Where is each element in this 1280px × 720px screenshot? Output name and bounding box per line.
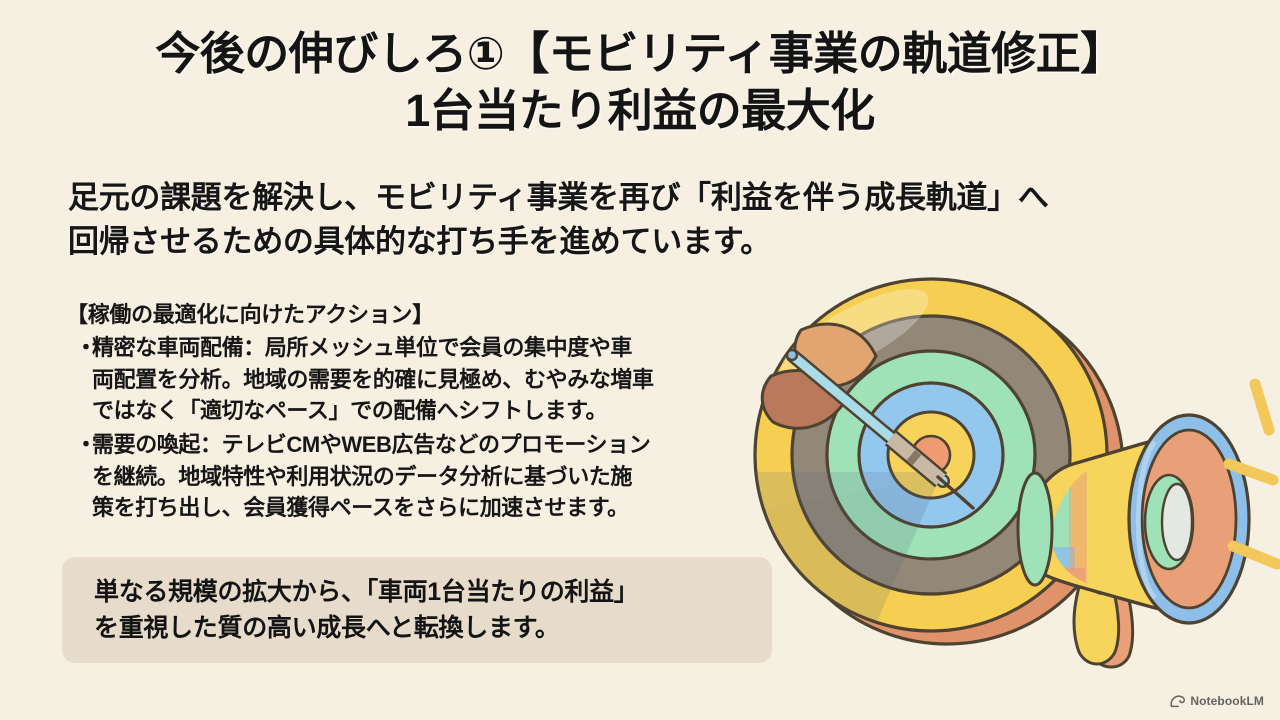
bullet-line: 精密な車両配備：局所メッシュ単位で会員の集中度や車 [92, 332, 756, 364]
title-line-1: 今後の伸びしろ①【モビリティ事業の軌道修正】 [0, 26, 1280, 83]
page-title: 今後の伸びしろ①【モビリティ事業の軌道修正】 1台当たり利益の最大化 [0, 26, 1280, 139]
notebooklm-watermark: NotebookLM [1170, 694, 1264, 708]
bullet-marker: ・ [75, 332, 97, 364]
bullet-line: ではなく「適切なペース」での配備へシフトします。 [92, 395, 756, 427]
callout-line-2: を重視した質の高い成長へと転換します。 [94, 610, 772, 647]
bullet-line: 両配置を分析。地域の需要を的確に見極め、むやみな増車 [92, 364, 756, 396]
callout-box: 単なる規模の拡大から、「車両1台当たりの利益」 を重視した質の高い成長へと転換し… [62, 557, 772, 663]
notebooklm-spiral-icon [1170, 695, 1185, 708]
slide-canvas: 今後の伸びしろ①【モビリティ事業の軌道修正】 1台当たり利益の最大化 足元の課題… [0, 0, 1280, 720]
list-item: ・ 精密な車両配備：局所メッシュ単位で会員の集中度や車 両配置を分析。地域の需要… [66, 332, 756, 427]
bullet-line: 需要の喚起：テレビCMやWEB広告などのプロモーション [92, 429, 756, 461]
lead-line-2: 回帰させるための具体的な打ち手を進めています。 [68, 220, 1178, 264]
notebooklm-label: NotebookLM [1190, 694, 1264, 708]
lead-line-1: 足元の課題を解決し、モビリティ事業を再び「利益を伴う成長軌道」へ [68, 176, 1178, 220]
bullet-line: を継続。地域特性や利用状況のデータ分析に基づいた施 [92, 461, 756, 493]
callout-line-1: 単なる規模の拡大から、「車両1台当たりの利益」 [94, 574, 772, 611]
dartboard-megaphone-illustration [735, 272, 1280, 692]
list-item: ・ 需要の喚起：テレビCMやWEB広告などのプロモーション を継続。地域特性や利… [66, 429, 756, 524]
lead-paragraph: 足元の課題を解決し、モビリティ事業を再び「利益を伴う成長軌道」へ 回帰させるため… [68, 176, 1178, 264]
bullet-line: 策を打ち出し、会員獲得ペースをさらに加速させます。 [92, 492, 756, 524]
body-heading: 【稼働の最適化に向けたアクション】 [66, 300, 756, 329]
body-column: 【稼働の最適化に向けたアクション】 ・ 精密な車両配備：局所メッシュ単位で会員の… [66, 300, 756, 526]
bullet-marker: ・ [75, 429, 97, 461]
title-line-2: 1台当たり利益の最大化 [0, 83, 1280, 140]
